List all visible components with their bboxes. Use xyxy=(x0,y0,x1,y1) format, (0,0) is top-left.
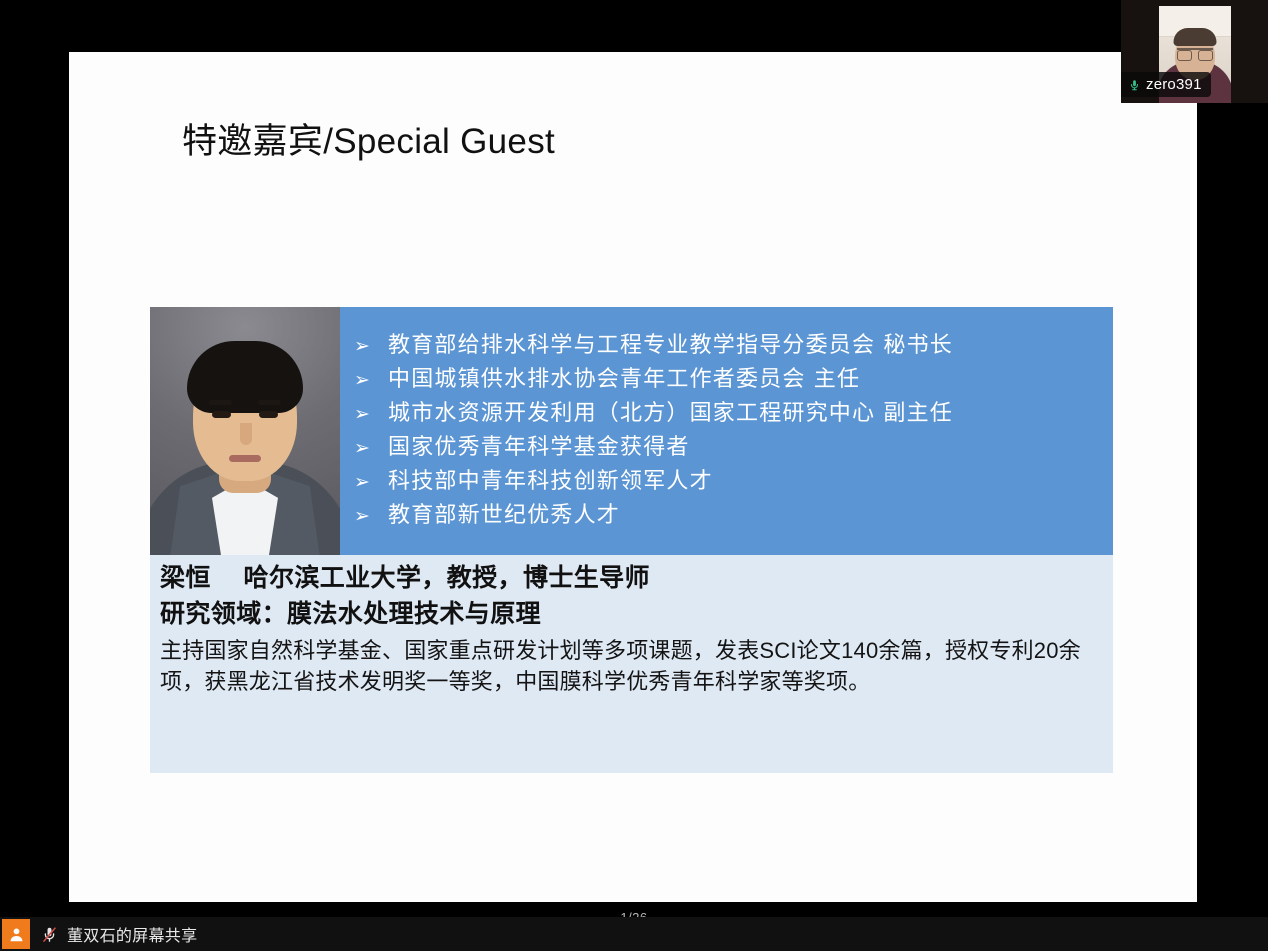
screen-share-status-label: 董双石的屏幕共享 xyxy=(67,922,197,946)
microphone-icon xyxy=(1128,77,1141,93)
guest-profile-card: ➢ 教育部给排水科学与工程专业教学指导分委员会 秘书长 ➢ 中国城镇供水排水协会… xyxy=(150,307,1113,773)
list-item-label: 国家优秀青年科学基金获得者 xyxy=(388,437,690,459)
guest-name-affiliation: 梁恒 哈尔滨工业大学，教授，博士生导师 xyxy=(160,561,1113,597)
list-item: ➢ 国家优秀青年科学基金获得者 xyxy=(354,431,1113,465)
list-item: ➢ 教育部给排水科学与工程专业教学指导分委员会 秘书长 xyxy=(354,329,1113,363)
guest-research-field: 研究领域：膜法水处理技术与原理 xyxy=(160,597,1113,633)
guest-description: 主持国家自然科学基金、国家重点研发计划等多项课题，发表SCI论文140余篇，授权… xyxy=(150,632,1113,697)
arrow-bullet-icon: ➢ xyxy=(354,337,388,356)
list-item: ➢ 教育部新世纪优秀人才 xyxy=(354,499,1113,533)
page-title: 特邀嘉宾/Special Guest xyxy=(182,121,555,163)
screen-share-stage: 特邀嘉宾/Special Guest xyxy=(0,0,1268,951)
microphone-muted-icon xyxy=(40,925,59,944)
participant-thumbnail[interactable]: zero391 xyxy=(1121,0,1268,103)
guest-photo xyxy=(150,307,340,555)
list-item: ➢ 中国城镇供水排水协会青年工作者委员会 主任 xyxy=(354,363,1113,397)
list-item-label: 中国城镇供水排水协会青年工作者委员会 主任 xyxy=(388,369,860,391)
list-item: ➢ 科技部中青年科技创新领军人才 xyxy=(354,465,1113,499)
portrait-illustration xyxy=(150,307,340,555)
guest-identity: 梁恒 哈尔滨工业大学，教授，博士生导师 研究领域：膜法水处理技术与原理 xyxy=(150,555,1113,632)
bottom-status-bar: 董双石的屏幕共享 xyxy=(0,917,1268,951)
arrow-bullet-icon: ➢ xyxy=(354,371,388,390)
person-icon xyxy=(8,926,25,943)
mic-status-icon-wrap xyxy=(40,925,59,944)
credentials-list: ➢ 教育部给排水科学与工程专业教学指导分委员会 秘书长 ➢ 中国城镇供水排水协会… xyxy=(340,307,1113,555)
guest-card-top: ➢ 教育部给排水科学与工程专业教学指导分委员会 秘书长 ➢ 中国城镇供水排水协会… xyxy=(150,307,1113,555)
shared-slide: 特邀嘉宾/Special Guest xyxy=(69,52,1197,902)
list-item-label: 城市水资源开发利用（北方）国家工程研究中心 副主任 xyxy=(388,403,953,425)
list-item-label: 科技部中青年科技创新领军人才 xyxy=(388,471,713,493)
participant-name: zero391 xyxy=(1146,76,1202,93)
participant-name-badge: zero391 xyxy=(1121,72,1211,97)
avatar xyxy=(2,919,30,949)
arrow-bullet-icon: ➢ xyxy=(354,507,388,526)
arrow-bullet-icon: ➢ xyxy=(354,439,388,458)
list-item-label: 教育部给排水科学与工程专业教学指导分委员会 秘书长 xyxy=(388,335,953,357)
arrow-bullet-icon: ➢ xyxy=(354,473,388,492)
list-item: ➢ 城市水资源开发利用（北方）国家工程研究中心 副主任 xyxy=(354,397,1113,431)
list-item-label: 教育部新世纪优秀人才 xyxy=(388,505,620,527)
arrow-bullet-icon: ➢ xyxy=(354,405,388,424)
